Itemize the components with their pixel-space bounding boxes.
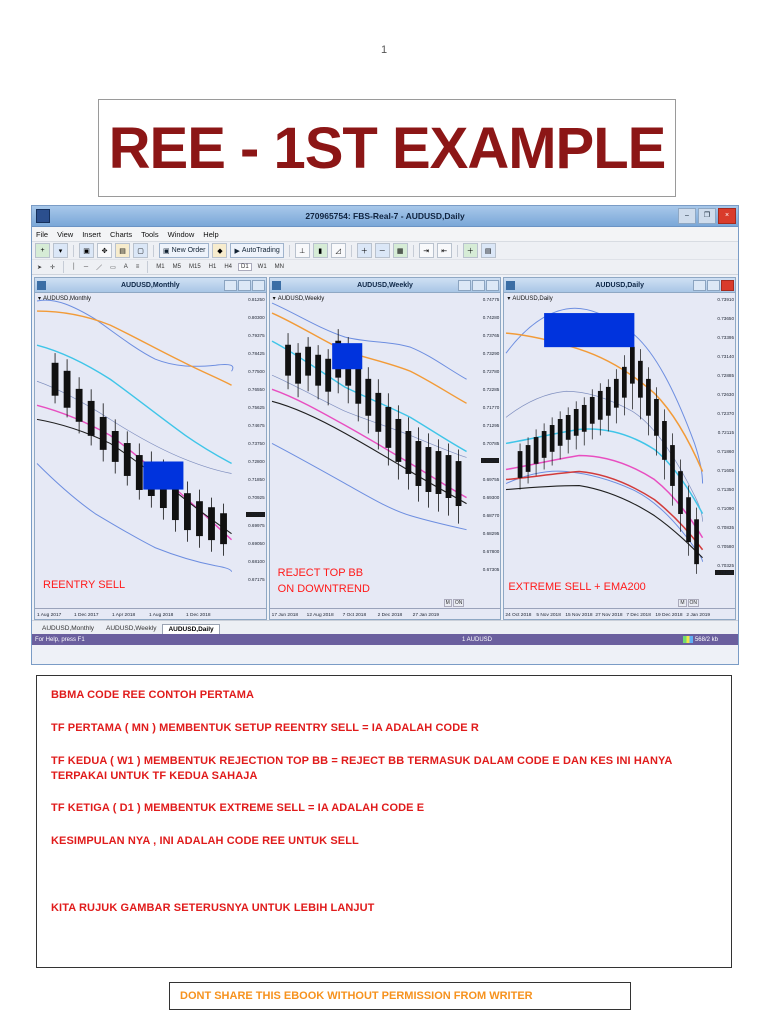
menu-item-tools[interactable]: Tools — [141, 230, 159, 239]
note-line-4: TF KETIGA ( D1 ) MEMBENTUK EXTREME SELL … — [51, 801, 717, 816]
metatrader-window: 270965754: FBS-Real-7 - AUDUSD,Daily – ❐… — [31, 205, 739, 665]
chart-tab-monthly[interactable]: AUDUSD,Monthly — [36, 623, 100, 634]
menu-item-file[interactable]: File — [36, 230, 48, 239]
data-window-icon[interactable]: ▤ — [115, 243, 130, 258]
menu-item-charts[interactable]: Charts — [110, 230, 132, 239]
minimize-icon[interactable] — [693, 280, 706, 291]
maximize-icon[interactable] — [238, 280, 251, 291]
highlight-box — [143, 461, 183, 489]
chart-window-monthly[interactable]: AUDUSD,Monthly — [34, 277, 267, 620]
note-line-3: TF KEDUA ( W1 ) MEMBENTUK REJECTION TOP … — [51, 754, 717, 784]
autoscroll-icon[interactable]: ⇤ — [437, 243, 452, 258]
shift-toggle[interactable]: M — [678, 599, 686, 607]
autoscroll-toggle[interactable]: ON — [688, 599, 700, 607]
chevron-down-icon: ▾ — [507, 295, 510, 302]
toolbar-separator — [351, 245, 352, 257]
note-line-6: KITA RUJUK GAMBAR SETERUSNYA UNTUK LEBIH… — [51, 901, 717, 916]
zoom-out-icon[interactable]: － — [375, 243, 390, 258]
text-icon[interactable]: A — [122, 264, 130, 270]
new-order-button[interactable]: ▣ New Order — [159, 243, 209, 258]
autoscroll-toggle-weekly[interactable]: M ON — [444, 599, 465, 607]
trendline-icon[interactable]: ／ — [94, 263, 104, 272]
minimize-icon[interactable] — [458, 280, 471, 291]
crosshair-icon[interactable]: ✛ — [48, 264, 57, 271]
chart-window-controls[interactable] — [458, 280, 499, 291]
page-title-box: REE - 1ST EXAMPLE — [98, 99, 676, 197]
timeframe-w1[interactable]: W1 — [256, 264, 269, 270]
window-title: 270965754: FBS-Real-7 - AUDUSD,Daily — [32, 211, 738, 221]
autotrading-label: AutoTrading — [242, 247, 280, 254]
chart-canvas-daily[interactable]: ▾ AUDUSD,Daily EXTREME SELL + EMA200 M O… — [504, 293, 735, 619]
chart-titlebar-weekly: AUDUSD,Weekly — [270, 278, 501, 293]
hline-icon[interactable]: ─ — [82, 264, 90, 270]
chart-profile-icon[interactable]: ▾ — [53, 243, 68, 258]
toolbar-separator — [63, 261, 64, 273]
chart-symbol-label-weekly: ▾ AUDUSD,Weekly — [273, 295, 325, 302]
timeframe-mn[interactable]: MN — [273, 264, 286, 270]
menu-item-help[interactable]: Help — [203, 230, 218, 239]
chart-canvas-weekly[interactable]: ▾ AUDUSD,Weekly REJECT TOP BB ON DOWNTRE… — [270, 293, 501, 619]
expert-advisors-icon[interactable]: ◆ — [212, 243, 227, 258]
vline-icon[interactable]: │ — [70, 264, 78, 270]
chart-window-daily[interactable]: AUDUSD,Daily — [503, 277, 736, 620]
textlabel-icon[interactable]: ≡ — [134, 264, 142, 270]
notes-box: BBMA CODE REE CONTOH PERTAMA TF PERTAMA … — [36, 675, 732, 968]
line-chart-icon[interactable]: ◿ — [331, 243, 346, 258]
menu-item-insert[interactable]: Insert — [82, 230, 101, 239]
toolbar-separator — [413, 245, 414, 257]
toolbar-separator — [147, 261, 148, 273]
chart-titlebar-monthly: AUDUSD,Monthly — [35, 278, 266, 293]
timeframe-m1[interactable]: M1 — [154, 264, 166, 270]
close-icon[interactable] — [486, 280, 499, 291]
page-title: REE - 1ST EXAMPLE — [109, 115, 666, 182]
market-watch-icon[interactable]: ▣ — [79, 243, 94, 258]
chart-window-controls[interactable] — [693, 280, 734, 291]
menu-item-view[interactable]: View — [57, 230, 73, 239]
chart-symbol-label-monthly: ▾ AUDUSD,Monthly — [38, 295, 91, 302]
rectangle-icon[interactable]: ▭ — [108, 264, 118, 271]
autoscroll-toggle[interactable]: ON — [453, 599, 465, 607]
price-axis-weekly: 0.74775 0.74280 0.73765 0.73290 0.72780 … — [466, 293, 500, 619]
navigator-icon[interactable]: ✥ — [97, 243, 112, 258]
candlestick-icon[interactable]: ▮ — [313, 243, 328, 258]
network-icon — [683, 636, 693, 643]
highlight-box — [332, 343, 362, 369]
new-order-icon: ▣ — [163, 247, 170, 255]
chevron-down-icon: ▾ — [273, 295, 276, 302]
status-symbol-count: 1 AUDUSD — [462, 637, 492, 643]
chevron-down-icon: ▾ — [38, 295, 41, 302]
autotrading-button[interactable]: ▶ AutoTrading — [230, 243, 283, 258]
line-studies-toolbar[interactable]: ➤ ✛ │ ─ ／ ▭ A ≡ M1 M5 M15 H1 H4 D1 W1 MN — [32, 260, 738, 275]
chart-tab-weekly[interactable]: AUDUSD,Weekly — [100, 623, 162, 634]
highlight-box — [544, 313, 634, 347]
new-chart-icon[interactable]: + — [35, 243, 50, 258]
date-axis-monthly: 1 Aug 2017 1 Dec 2017 1 Apr 2018 1 Aug 2… — [35, 608, 266, 619]
autoscroll-toggle-daily[interactable]: M ON — [678, 599, 699, 607]
chart-window-controls[interactable] — [224, 280, 265, 291]
toolbar-separator — [153, 245, 154, 257]
chart-tab-daily[interactable]: AUDUSD,Daily — [162, 624, 219, 634]
close-icon[interactable] — [252, 280, 265, 291]
terminal-icon[interactable]: ▢ — [133, 243, 148, 258]
chart-annotation-daily: EXTREME SELL + EMA200 — [508, 581, 645, 595]
cursor-icon[interactable]: ➤ — [35, 264, 44, 271]
toolbar-separator — [289, 245, 290, 257]
chart-annotation-weekly-line2: ON DOWNTREND — [278, 583, 370, 597]
chart-annotation-weekly-line1: REJECT TOP BB — [278, 567, 363, 581]
zoom-in-icon[interactable]: ＋ — [357, 243, 372, 258]
status-bar: For Help, press F1 1 AUDUSD 568/2 kb — [32, 634, 738, 645]
bar-chart-icon[interactable]: ⊥ — [295, 243, 310, 258]
chart-window-weekly[interactable]: AUDUSD,Weekly — [269, 277, 502, 620]
footer-warning-text: DONT SHARE THIS EBOOK WITHOUT PERMISSION… — [180, 990, 533, 1002]
minimize-icon[interactable] — [224, 280, 237, 291]
timeframe-m5[interactable]: M5 — [171, 264, 183, 270]
note-line-1: BBMA CODE REE CONTOH PERTAMA — [51, 688, 717, 703]
templates-icon[interactable]: ▤ — [481, 243, 496, 258]
shift-toggle[interactable]: M — [444, 599, 452, 607]
chart-annotation-monthly: REENTRY SELL — [43, 579, 125, 593]
chart-canvas-monthly[interactable]: ▾ AUDUSD,Monthly REENTRY SELL 0.81250 0.… — [35, 293, 266, 619]
indicators-icon[interactable]: ＋ — [463, 243, 478, 258]
current-price-monthly: 0.70290 — [246, 512, 265, 517]
window-controls[interactable]: – ❐ × — [678, 208, 736, 224]
page-number: 1 — [0, 44, 768, 56]
minimize-icon[interactable]: – — [678, 208, 696, 224]
main-toolbar[interactable]: + ▾ ▣ ✥ ▤ ▢ ▣ New Order ◆ ▶ AutoTrading … — [32, 242, 738, 260]
current-price-weekly: 0.70290 — [481, 458, 500, 463]
price-axis-monthly: 0.81250 0.80300 0.79375 0.78425 0.77500 … — [232, 293, 266, 619]
date-axis-daily: 24 Oct 2018 5 Nov 2018 15 Nov 2018 27 No… — [504, 608, 735, 619]
chart-workspace: AUDUSD,Monthly — [32, 275, 738, 620]
footer-box: DONT SHARE THIS EBOOK WITHOUT PERMISSION… — [169, 982, 631, 1010]
maximize-icon[interactable]: ❐ — [698, 208, 716, 224]
status-traffic: 568/2 kb — [683, 636, 718, 643]
toolbar-separator — [73, 245, 74, 257]
date-axis-weekly: 17 Jun 2018 12 Aug 2018 7 Oct 2018 2 Dec… — [270, 608, 501, 619]
close-icon[interactable] — [721, 280, 734, 291]
note-line-2: TF PERTAMA ( MN ) MEMBENTUK SETUP REENTR… — [51, 721, 717, 736]
autotrading-icon: ▶ — [234, 247, 239, 255]
close-icon[interactable]: × — [718, 208, 736, 224]
timeframe-h4[interactable]: H4 — [222, 264, 234, 270]
maximize-icon[interactable] — [707, 280, 720, 291]
grid-icon[interactable]: ▦ — [393, 243, 408, 258]
menu-bar[interactable]: File View Insert Charts Tools Window Hel… — [32, 227, 738, 242]
window-titlebar: 270965754: FBS-Real-7 - AUDUSD,Daily – ❐… — [32, 206, 738, 227]
price-axis-daily: 0.73910 0.73650 0.73395 0.73140 0.72885 … — [701, 293, 735, 619]
chart-tabbar[interactable]: AUDUSD,Monthly AUDUSD,Weekly AUDUSD,Dail… — [32, 620, 738, 634]
timeframe-m15[interactable]: M15 — [187, 264, 203, 270]
maximize-icon[interactable] — [472, 280, 485, 291]
menu-item-window[interactable]: Window — [168, 230, 195, 239]
current-price-daily: 0.70290 — [715, 570, 734, 575]
timeframe-d1[interactable]: D1 — [238, 263, 252, 271]
chart-titlebar-daily: AUDUSD,Daily — [504, 278, 735, 293]
note-line-5: KESIMPULAN NYA , INI ADALAH CODE REE UNT… — [51, 834, 717, 849]
status-help-text: For Help, press F1 — [35, 637, 85, 643]
new-order-label: New Order — [172, 247, 206, 254]
toolbar-separator — [457, 245, 458, 257]
timeframe-h1[interactable]: H1 — [207, 264, 219, 270]
chart-symbol-label-daily: ▾ AUDUSD,Daily — [507, 295, 552, 302]
shift-chart-icon[interactable]: ⇥ — [419, 243, 434, 258]
